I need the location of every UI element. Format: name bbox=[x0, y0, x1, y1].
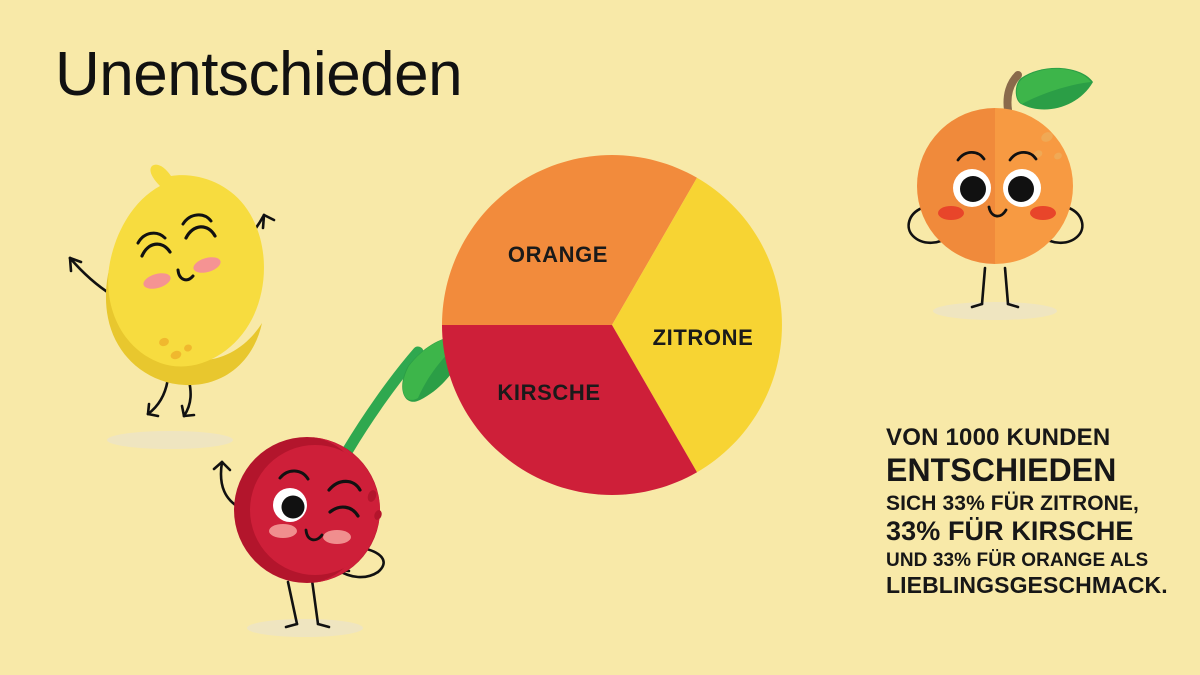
cherry-stem bbox=[348, 352, 418, 450]
stats-line-1: Von 1000 Kunden bbox=[886, 424, 1126, 452]
orange-eye-left-pupil bbox=[960, 176, 986, 202]
orange-eye-right-pupil bbox=[1008, 176, 1034, 202]
lemon-shadow bbox=[107, 431, 233, 449]
cherry-blush-left bbox=[269, 524, 297, 538]
cherry-eye-open-pupil bbox=[282, 496, 305, 519]
cherry-blush-right bbox=[323, 530, 351, 544]
cherry-character bbox=[214, 337, 463, 627]
lemon-body bbox=[108, 165, 264, 367]
slide-canvas: Unentschieden bbox=[0, 0, 1200, 675]
orange-blush-left bbox=[938, 206, 964, 220]
stats-text-block: Von 1000 Kunden entschieden sich 33% für… bbox=[886, 424, 1126, 598]
pie-label-orange: ORANGE bbox=[508, 242, 608, 267]
pie-chart: ORANGE ZITRONE KIRSCHE bbox=[442, 155, 782, 495]
stats-line-5: und 33% für Orange als bbox=[886, 550, 1126, 572]
pie-label-kirsche: KIRSCHE bbox=[497, 380, 600, 405]
pie-label-zitrone: ZITRONE bbox=[653, 325, 754, 350]
orange-legs bbox=[972, 268, 1018, 307]
cherry-shadow bbox=[247, 619, 363, 637]
stats-line-4: 33% für Kirsche bbox=[886, 516, 1126, 547]
orange-blush-right bbox=[1030, 206, 1056, 220]
lemon-character bbox=[70, 165, 274, 416]
stats-line-2: entschieden bbox=[886, 452, 1126, 489]
cherry-body-main bbox=[250, 445, 380, 575]
orange-shadow bbox=[933, 302, 1057, 320]
stats-line-6: Lieblingsgeschmack. bbox=[886, 572, 1126, 599]
stats-line-3: sich 33% für Zitrone, bbox=[886, 492, 1126, 516]
orange-character bbox=[909, 68, 1093, 307]
